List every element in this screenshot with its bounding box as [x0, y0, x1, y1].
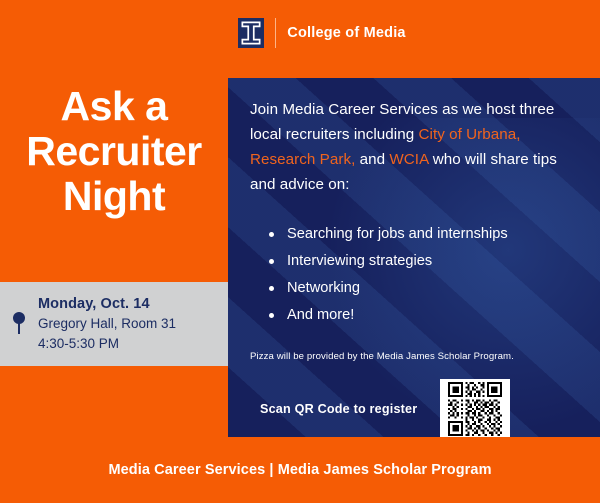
- footer-text: Media Career Services | Media James Scho…: [108, 462, 491, 478]
- list-item: And more!: [268, 302, 578, 329]
- description-part-2: and: [355, 151, 389, 168]
- event-time: 4:30-5:30 PM: [38, 334, 176, 354]
- brand-lockup: College of Media: [238, 18, 405, 48]
- page-title-line-2: Recruiter: [0, 129, 228, 174]
- flyer-header: College of Media: [0, 0, 600, 66]
- page-title: Ask a Recruiter Night: [0, 84, 228, 219]
- pizza-note: Pizza will be provided by the Media Jame…: [250, 351, 578, 362]
- list-item: Interviewing strategies: [268, 248, 578, 275]
- qr-instruction-label: Scan QR Code to register: [250, 402, 440, 416]
- event-location: Gregory Hall, Room 31: [38, 314, 176, 334]
- list-item: Networking: [268, 275, 578, 302]
- page-title-line-1: Ask a: [0, 84, 228, 129]
- event-flyer: College of Media Ask a Recruiter Night M…: [0, 0, 600, 503]
- event-details-box: Monday, Oct. 14 Gregory Hall, Room 31 4:…: [0, 282, 228, 366]
- flyer-footer: Media Career Services | Media James Scho…: [0, 437, 600, 503]
- illinois-block-i-icon: [238, 18, 264, 48]
- description-highlight-2: WCIA: [389, 151, 428, 168]
- topics-list: Searching for jobs and internships Inter…: [268, 221, 578, 329]
- list-item: Searching for jobs and internships: [268, 221, 578, 248]
- event-date: Monday, Oct. 14: [38, 294, 176, 314]
- location-pin-icon: [0, 312, 38, 336]
- event-details-text: Monday, Oct. 14 Gregory Hall, Room 31 4:…: [38, 294, 176, 354]
- qr-registration-row: Scan QR Code to register: [250, 379, 578, 437]
- brand-name: College of Media: [287, 25, 405, 41]
- qr-code-icon[interactable]: [440, 379, 510, 437]
- event-description: Join Media Career Services as we host th…: [250, 97, 578, 197]
- brand-divider: [275, 18, 276, 48]
- page-title-line-3: Night: [0, 174, 228, 219]
- details-panel: Join Media Career Services as we host th…: [228, 78, 600, 437]
